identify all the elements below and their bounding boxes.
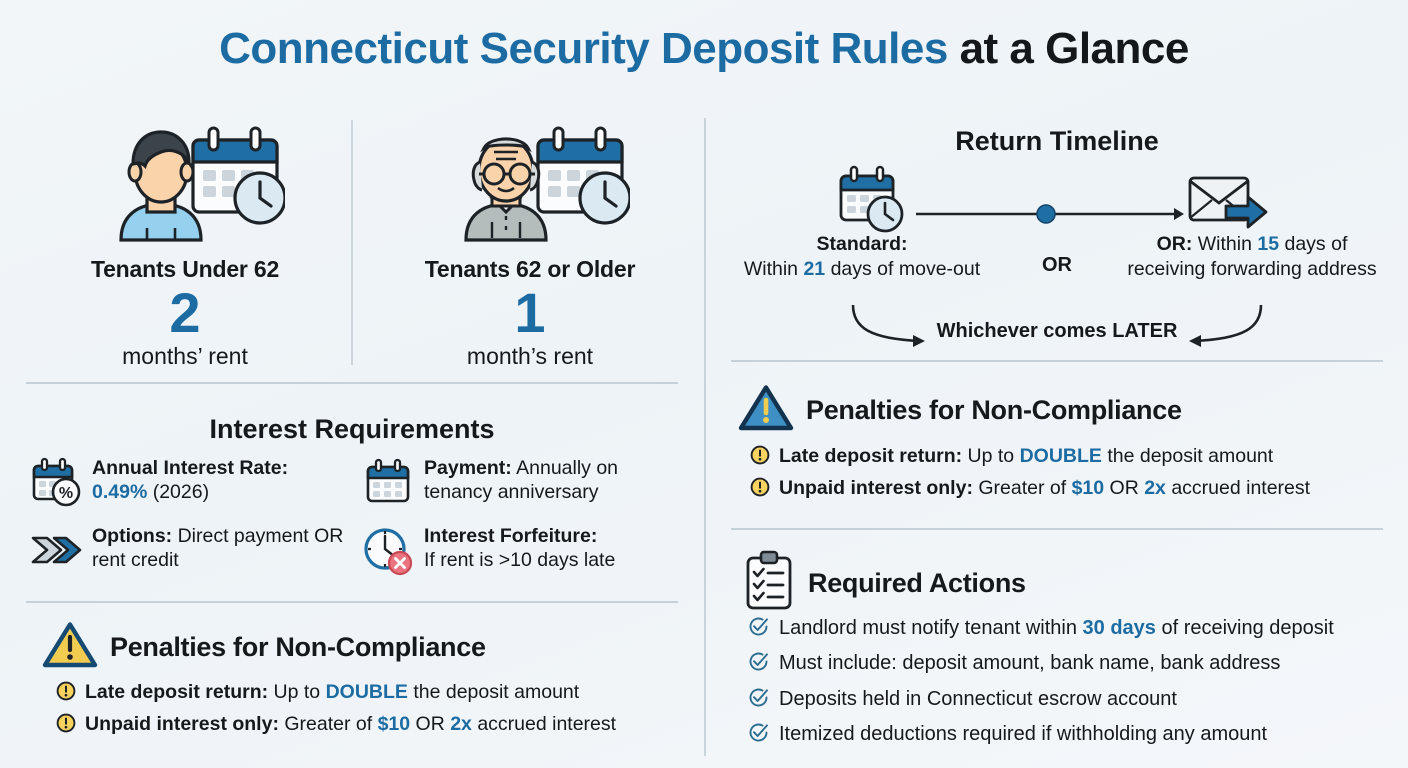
interest-item-annual-rate: % Annual Interest Rate: 0.49% (2026) [30, 456, 348, 508]
interest-item-options: Options: Direct payment OR rent credit [30, 524, 348, 576]
divider-right-1 [731, 360, 1383, 362]
penalty-item-text-a: Up to [268, 681, 325, 703]
tenant-card-caption: Tenants Under 62 [20, 256, 350, 283]
tenant-card-caption: Tenants 62 or Older [365, 256, 695, 283]
penalty-item-bold: Late deposit return: [779, 445, 962, 467]
penalty-item: Late deposit return: Up to DOUBLE the de… [56, 678, 681, 710]
tenant-card-amount: 1 [365, 285, 695, 341]
timeline-standard-text-a: Within [744, 258, 804, 280]
calendar-icon [362, 456, 414, 508]
penalty-item-text-a: Greater of [279, 713, 378, 735]
timeline-alternate-text-a: Within [1192, 233, 1257, 255]
young-tenant-with-calendar-clock-icon [20, 120, 350, 248]
required-action-item: Deposits held in Connecticut escrow acco… [748, 683, 1388, 718]
curved-arrow-right-icon [1181, 305, 1269, 357]
penalties-right-heading: Penalties for Non-Compliance [806, 395, 1182, 426]
interest-item-label: Interest Forfeiture: [424, 525, 597, 547]
required-action-text: Landlord must notify tenant within 30 da… [779, 612, 1334, 644]
exclamation-circle-icon [56, 713, 76, 742]
penalty-item-accent: DOUBLE [326, 681, 408, 703]
check-circle-icon [748, 721, 769, 753]
penalty-item-accent: $10 [1072, 477, 1105, 499]
required-action-item: Landlord must notify tenant within 30 da… [748, 612, 1388, 647]
required-action-text-a: Landlord must notify tenant within [779, 617, 1083, 639]
page-title: Connecticut Security Deposit Rules at a … [0, 24, 1408, 74]
tenant-card-62-or-older: Tenants 62 or Older 1 month’s rent [365, 120, 695, 370]
interest-requirements-grid: % Annual Interest Rate: 0.49% (2026) [30, 456, 680, 576]
penalty-item-text-b: the deposit amount [408, 681, 579, 703]
penalty-item-text: Unpaid interest only: Greater of $10 OR … [779, 474, 1310, 503]
column-divider [704, 118, 706, 756]
interest-item-text: Interest Forfeiture:If rent is >10 days … [424, 524, 615, 573]
interest-item-value: (2026) [147, 481, 209, 503]
interest-section-heading: Interest Requirements [26, 414, 678, 445]
tenant-card-unit: months’ rent [20, 343, 350, 370]
interest-item-value: If rent is >10 days late [424, 549, 615, 571]
timeline-standard-accent: 21 [803, 258, 825, 280]
penalty-item-text-c: accrued interest [1166, 477, 1310, 499]
curved-arrow-left-icon [845, 305, 933, 357]
interest-item-forfeiture: Interest Forfeiture:If rent is >10 days … [362, 524, 680, 576]
tenant-card-unit: month’s rent [365, 343, 695, 370]
penalty-item-text: Unpaid interest only: Greater of $10 OR … [85, 710, 616, 739]
timeline-standard-text-b: days of move-out [825, 258, 980, 280]
required-actions-list: Landlord must notify tenant within 30 da… [748, 612, 1388, 754]
senior-tenant-with-calendar-clock-icon [365, 120, 695, 248]
exclamation-circle-icon [750, 477, 770, 506]
required-actions-heading-row: Required Actions [742, 550, 1026, 617]
penalty-item-bold: Late deposit return: [85, 681, 268, 703]
check-circle-icon [748, 650, 769, 682]
timeline-heading: Return Timeline [731, 126, 1383, 157]
penalty-item-accent: DOUBLE [1020, 445, 1102, 467]
timeline-alternate-accent: 15 [1257, 233, 1279, 255]
penalty-item-text-a: Up to [962, 445, 1019, 467]
timeline-graphic [731, 162, 1383, 242]
timeline-footer-row: Whichever comes LATER [731, 305, 1383, 357]
check-circle-icon [748, 615, 769, 647]
double-chevron-icon [30, 524, 82, 576]
timeline-footer-text: Whichever comes LATER [937, 320, 1178, 343]
envelope-forward-arrow-icon [1186, 166, 1268, 241]
penalties-right-heading-row: Penalties for Non-Compliance [738, 383, 1182, 438]
divider-left-1 [26, 382, 678, 384]
penalties-left-list: Late deposit return: Up to DOUBLE the de… [56, 678, 681, 743]
page-title-plain: at a Glance [948, 24, 1189, 73]
interest-item-text: Payment: Annually on tenancy anniversary [424, 456, 680, 505]
penalties-right-list: Late deposit return: Up to DOUBLE the de… [750, 442, 1386, 507]
exclamation-circle-icon [750, 445, 770, 474]
penalty-item: Late deposit return: Up to DOUBLE the de… [750, 442, 1386, 474]
required-action-item: Itemized deductions required if withhold… [748, 718, 1388, 753]
tenant-card-under-62: Tenants Under 62 2 months’ rent [20, 120, 350, 370]
warning-triangle-blue-icon [738, 383, 794, 438]
penalty-item-text-a: Greater of [973, 477, 1072, 499]
penalty-item-text-b: OR [1104, 477, 1144, 499]
penalty-item: Unpaid interest only: Greater of $10 OR … [56, 710, 681, 742]
interest-item-text: Annual Interest Rate: 0.49% (2026) [92, 456, 288, 505]
required-action-item: Must include: deposit amount, bank name,… [748, 647, 1388, 682]
svg-text:%: % [59, 485, 73, 502]
check-circle-icon [748, 686, 769, 718]
penalty-item-text-b: the deposit amount [1102, 445, 1273, 467]
timeline-labels: Standard: Within 21 days of move-out OR … [731, 232, 1383, 282]
penalty-item-accent-2: 2x [450, 713, 472, 735]
required-actions-heading: Required Actions [808, 568, 1026, 599]
interest-item-text: Options: Direct payment OR rent credit [92, 524, 348, 573]
interest-item-label: Payment: [424, 457, 512, 479]
tenant-card-amount: 2 [20, 285, 350, 341]
calendar-percent-icon: % [30, 456, 82, 508]
penalty-item-bold: Unpaid interest only: [779, 477, 973, 499]
page-title-highlight: Connecticut Security Deposit Rules [219, 24, 948, 73]
required-action-text: Itemized deductions required if withhold… [779, 718, 1267, 750]
penalty-item-text-b: OR [410, 713, 450, 735]
penalty-item-text: Late deposit return: Up to DOUBLE the de… [779, 442, 1273, 471]
divider-left-2 [26, 601, 678, 603]
tenant-card-divider [351, 120, 353, 365]
penalty-item-accent: $10 [378, 713, 411, 735]
penalty-item-text-c: accrued interest [472, 713, 616, 735]
exclamation-circle-icon [56, 681, 76, 710]
warning-triangle-yellow-icon [42, 620, 98, 675]
interest-item-payment: Payment: Annually on tenancy anniversary [362, 456, 680, 508]
timeline-alternate-label: OR: Within 15 days of receiving forwardi… [1121, 232, 1383, 282]
infographic-page: Connecticut Security Deposit Rules at a … [0, 0, 1408, 768]
required-action-accent: 30 days [1083, 617, 1156, 639]
timeline-standard-bold: Standard: [816, 233, 907, 255]
required-action-text-b: of receiving deposit [1156, 617, 1334, 639]
penalties-left-heading: Penalties for Non-Compliance [110, 632, 486, 663]
penalty-item-bold: Unpaid interest only: [85, 713, 279, 735]
timeline-alternate-bold: OR: [1157, 233, 1193, 255]
penalty-item: Unpaid interest only: Greater of $10 OR … [750, 474, 1386, 506]
required-action-text: Must include: deposit amount, bank name,… [779, 647, 1280, 679]
divider-right-2 [731, 528, 1383, 530]
required-action-text: Deposits held in Connecticut escrow acco… [779, 683, 1177, 715]
penalties-left-heading-row: Penalties for Non-Compliance [42, 620, 486, 675]
timeline-or-label: OR [1022, 232, 1092, 277]
interest-item-accent: 0.49% [92, 481, 147, 503]
clock-x-icon [362, 524, 414, 576]
penalty-item-accent-2: 2x [1144, 477, 1166, 499]
interest-item-label: Options: [92, 525, 172, 547]
interest-item-label: Annual Interest Rate: [92, 457, 288, 479]
timeline-arrow [916, 204, 1186, 224]
timeline-standard-label: Standard: Within 21 days of move-out [731, 232, 993, 282]
penalty-item-text: Late deposit return: Up to DOUBLE the de… [85, 678, 579, 707]
clipboard-checklist-icon [742, 550, 796, 617]
